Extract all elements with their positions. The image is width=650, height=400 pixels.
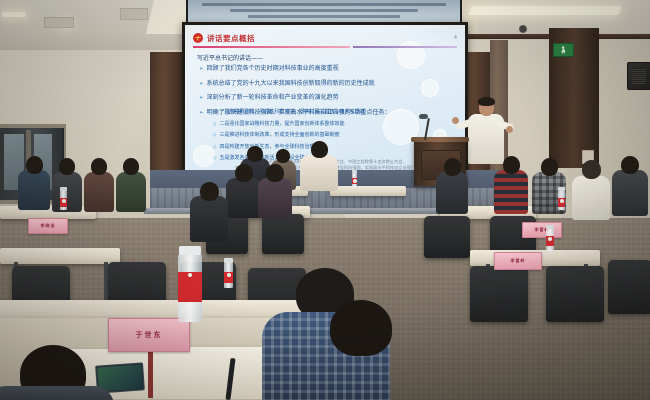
foreground-attendee-shoulders [0,386,114,400]
attendee-body [84,172,114,212]
attendee-head [503,156,520,174]
bullet-text: 系统总结了党的十九大以来我国科技创新取得的新的历史性成就 [207,80,375,88]
attendee-head [582,160,601,179]
attendee-body [572,176,610,220]
subitem-text: 一是加强原创性、引领性科技攻关，坚决打赢关键核心技术攻坚战 [219,109,364,116]
bullet-marker-icon: ➢ [199,80,204,88]
ceiling-light-strip-2 [468,6,621,15]
bullet-item: ➢ 系统总结了党的十九大以来我国科技创新取得的新的历史性成就 [199,80,457,88]
bottle-label [352,178,357,184]
bottle-cap [224,258,233,263]
bottle-cap [352,170,357,173]
subitem-marker-icon: ◇ [213,132,216,139]
name-placard: 李富岭 [522,222,562,238]
attendee-head [247,146,263,162]
bottle-label [60,198,67,207]
attendee-body [436,172,468,214]
subitem-text: 三是推进科技体制改革，形成支持全面创新的基础制度 [219,132,339,139]
attendee-head [235,164,253,182]
bottle-label [546,236,554,246]
speaker-hand-right [506,126,513,133]
attendee-head [266,164,284,182]
divider-segment-purple [353,46,457,48]
subitem-marker-icon: ◇ [213,121,216,128]
attendee-head [91,158,107,175]
bottle-label [178,272,202,302]
ceiling-vent [44,17,74,28]
conference-room-photo: 讲话要点概括 4 写近平总书记的讲话—— ➢ 回顾了我们党各个历史时期对科技事业… [0,0,650,400]
secondary-display [186,0,462,24]
attendee-head [276,149,290,163]
placard-name: 李晓佳 [41,223,56,229]
bottle-cap [179,246,201,255]
party-emblem-icon [193,33,203,43]
slide-header: 讲话要点概括 4 [193,31,457,45]
attendee-head [311,141,328,158]
placard-name: 于世东 [136,330,163,340]
attendee-head [444,158,461,176]
subitem-text: 四是构建开放创新生态，参与全球科技治理 [219,144,314,151]
bullet-item: ➢ 深刻分析了新一轮科技革命和产业变革的演化趋势 [199,94,457,102]
attendee-body [258,178,292,218]
bottle-cap [60,187,67,191]
placard-name: 李富岭 [511,258,526,264]
bottle-label [558,198,565,207]
subitem: ◇ 二是强化国家战略科技力量，提升国家创新体系整体效能 [213,121,457,128]
name-placard: 李富岭 [494,252,542,270]
bullet-text: 回顾了我们党各个历史时期对科技事业的高度重视 [207,65,339,73]
bottle-cap [558,187,565,191]
attendee-head [59,158,75,175]
running-man-glyph [561,46,566,54]
desk [0,248,120,264]
slide-lead-text: 写近平总书记的讲话—— [197,53,263,62]
chair[interactable] [608,260,650,314]
divider-segment-pink [193,46,350,48]
open-notebook-right-page [152,346,264,400]
bullet-marker-icon: ➢ [199,109,204,117]
slide-divider [193,46,457,48]
subitem-marker-icon: ◇ [213,144,216,151]
ceiling-vent-2 [120,8,148,20]
notebook-spine [148,346,153,398]
attendee-head [123,158,139,175]
attendee-body [494,170,528,214]
ceiling-camera-icon [520,26,526,32]
desk [330,186,406,196]
attendee-body [52,172,82,212]
secondary-display-line [202,3,446,6]
bullet-text: 深刻分析了新一轮科技革命和产业变革的演化趋势 [207,94,339,102]
chair[interactable] [470,266,528,322]
slide-title: 讲话要点概括 [207,33,255,44]
podium-top [411,137,469,142]
attendee-body [300,155,338,191]
slide-page-number: 4 [454,35,457,41]
microphone-icon [419,114,428,119]
chair[interactable] [424,216,470,258]
chair[interactable] [262,214,304,254]
subitem-marker-icon: ◇ [213,109,216,116]
attendee-head [200,182,219,201]
bottle-cap [546,225,554,229]
ceiling-light [2,12,26,17]
wall-speaker-icon [627,62,650,90]
attendee-head [26,156,43,174]
subitem-text: 二是强化国家战略科技力量，提升国家创新体系整体效能 [219,121,344,128]
attendee-body [190,196,228,242]
bullet-item: ➢ 回顾了我们党各个历史时期对科技事业的高度重视 [199,65,457,73]
bullet-marker-icon: ➢ [199,94,204,102]
secondary-display-line [248,15,400,18]
exit-sign-icon [553,43,574,57]
center-attendee-head-front [330,300,392,356]
speaker-hand-left [452,117,459,124]
attendee-body [226,178,262,218]
attendee-head [541,158,558,176]
name-placard-foreground: 于世东 [108,318,190,352]
attendee-head [621,156,639,174]
secondary-display-line [230,9,418,12]
attendee-body [612,170,648,216]
attendee-body [18,170,50,210]
chair[interactable] [546,266,604,322]
bottle-label [224,272,233,283]
name-placard: 李晓佳 [28,218,68,234]
attendee-body [116,172,146,212]
speaker-hair [478,97,495,106]
bullet-marker-icon: ➢ [199,65,204,73]
